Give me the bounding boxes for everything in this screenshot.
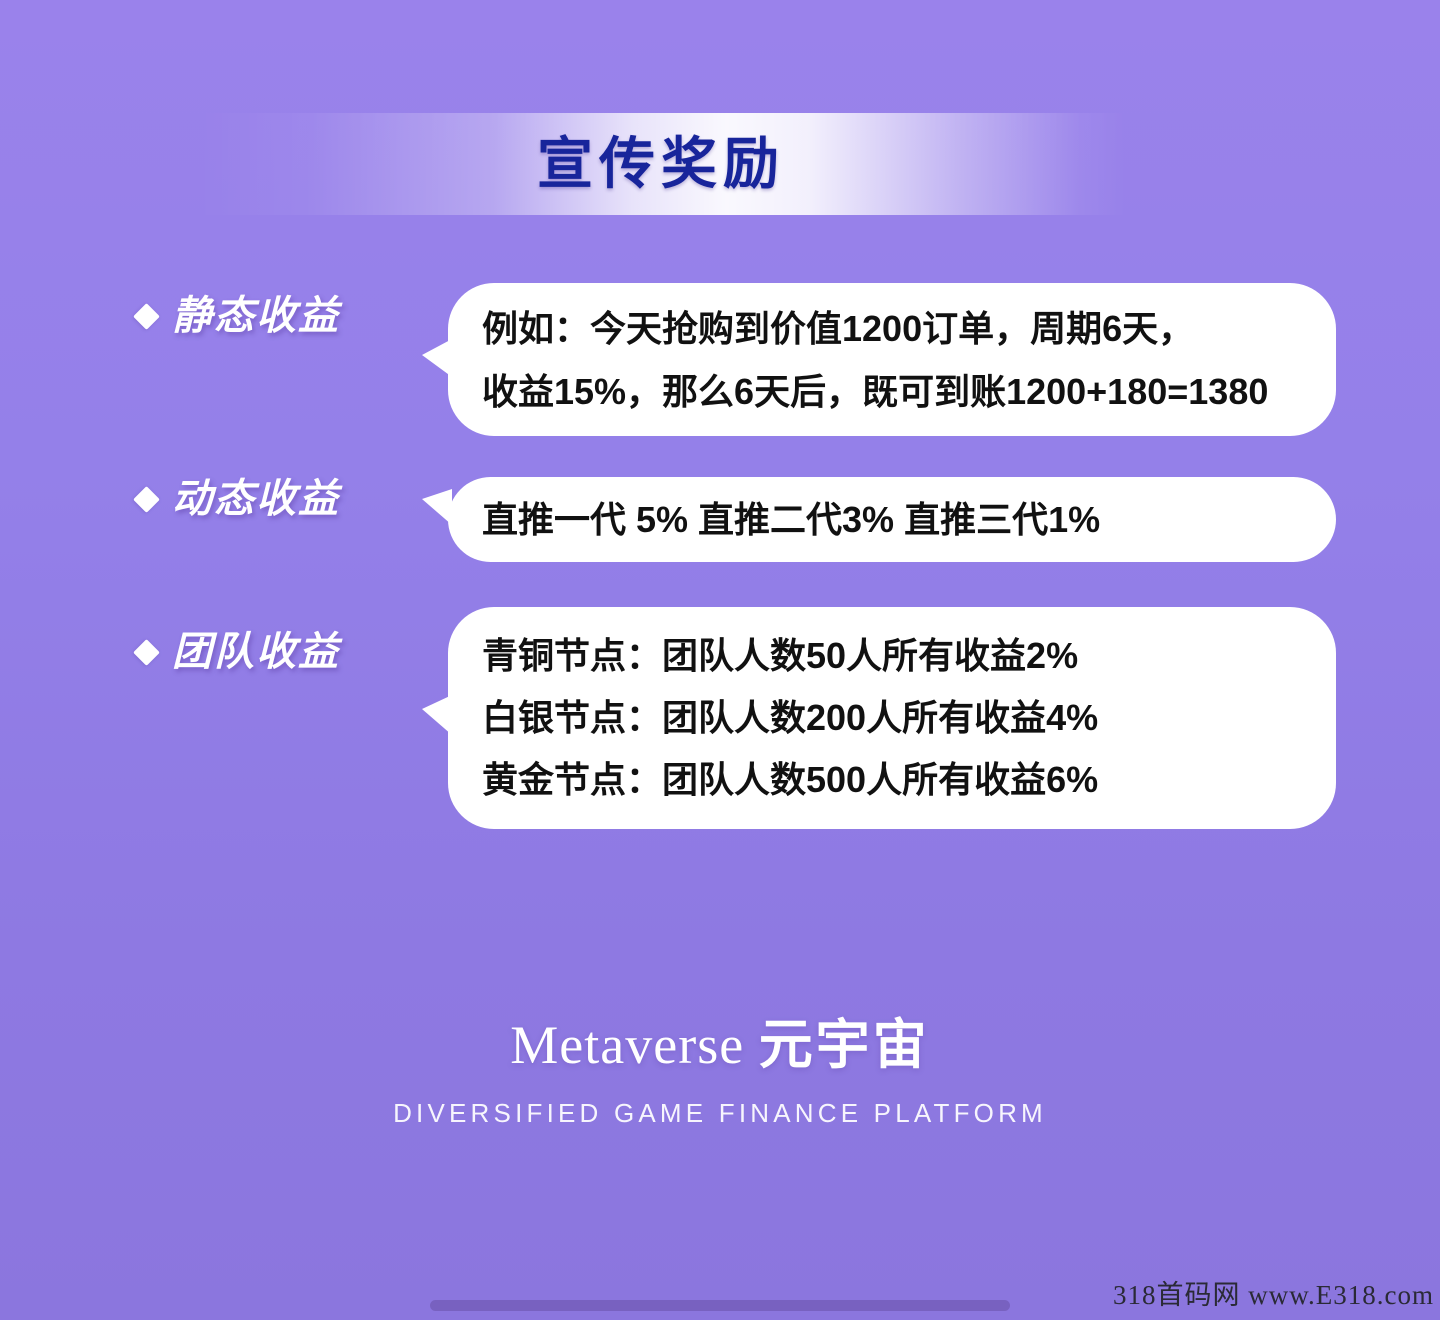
bubble-line: 例如：今天抢购到价值1200订单，周期6天， (482, 297, 1302, 360)
diamond-icon (133, 303, 160, 330)
section-label-dynamic: 动态收益 (137, 477, 340, 521)
section-label-text: 团队收益 (172, 630, 340, 674)
bubble-line: 白银节点：团队人数200人所有收益4% (482, 687, 1302, 749)
diamond-icon (133, 486, 160, 513)
watermark: 318首码网 www.E318.com (1113, 1273, 1434, 1312)
brand-name: Metaverse 元宇宙 (0, 1012, 1440, 1080)
speech-bubble-team: 青铜节点：团队人数50人所有收益2% 白银节点：团队人数200人所有收益4% 黄… (448, 607, 1336, 829)
speech-bubble-static: 例如：今天抢购到价值1200订单，周期6天， 收益15%，那么6天后，既可到账1… (448, 283, 1336, 436)
brand-block: Metaverse 元宇宙 DIVERSIFIED GAME FINANCE P… (0, 1012, 1440, 1129)
promo-reward-page: 宣传奖励 静态收益 例如：今天抢购到价值1200订单，周期6天， 收益15%，那… (0, 0, 1440, 1320)
home-indicator[interactable] (430, 1300, 1010, 1311)
title-banner: 宣传奖励 (196, 113, 1126, 215)
section-label-team: 团队收益 (137, 630, 340, 674)
brand-name-cn: 元宇宙 (759, 1015, 930, 1075)
section-label-text: 动态收益 (172, 477, 340, 521)
diamond-icon (133, 639, 160, 666)
bubble-line: 收益15%，那么6天后，既可到账1200+180=1380 (482, 360, 1302, 423)
bubble-line: 直推一代 5% 直推二代3% 直推三代1% (482, 492, 1302, 548)
bubble-line: 黄金节点：团队人数500人所有收益6% (482, 749, 1302, 811)
brand-name-en: Metaverse (510, 1015, 744, 1075)
section-label-static: 静态收益 (137, 294, 340, 338)
section-label-text: 静态收益 (172, 294, 340, 338)
brand-tagline: DIVERSIFIED GAME FINANCE PLATFORM (0, 1098, 1440, 1129)
page-title: 宣传奖励 (537, 136, 785, 192)
speech-bubble-dynamic: 直推一代 5% 直推二代3% 直推三代1% (448, 477, 1336, 562)
bubble-line: 青铜节点：团队人数50人所有收益2% (482, 625, 1302, 687)
